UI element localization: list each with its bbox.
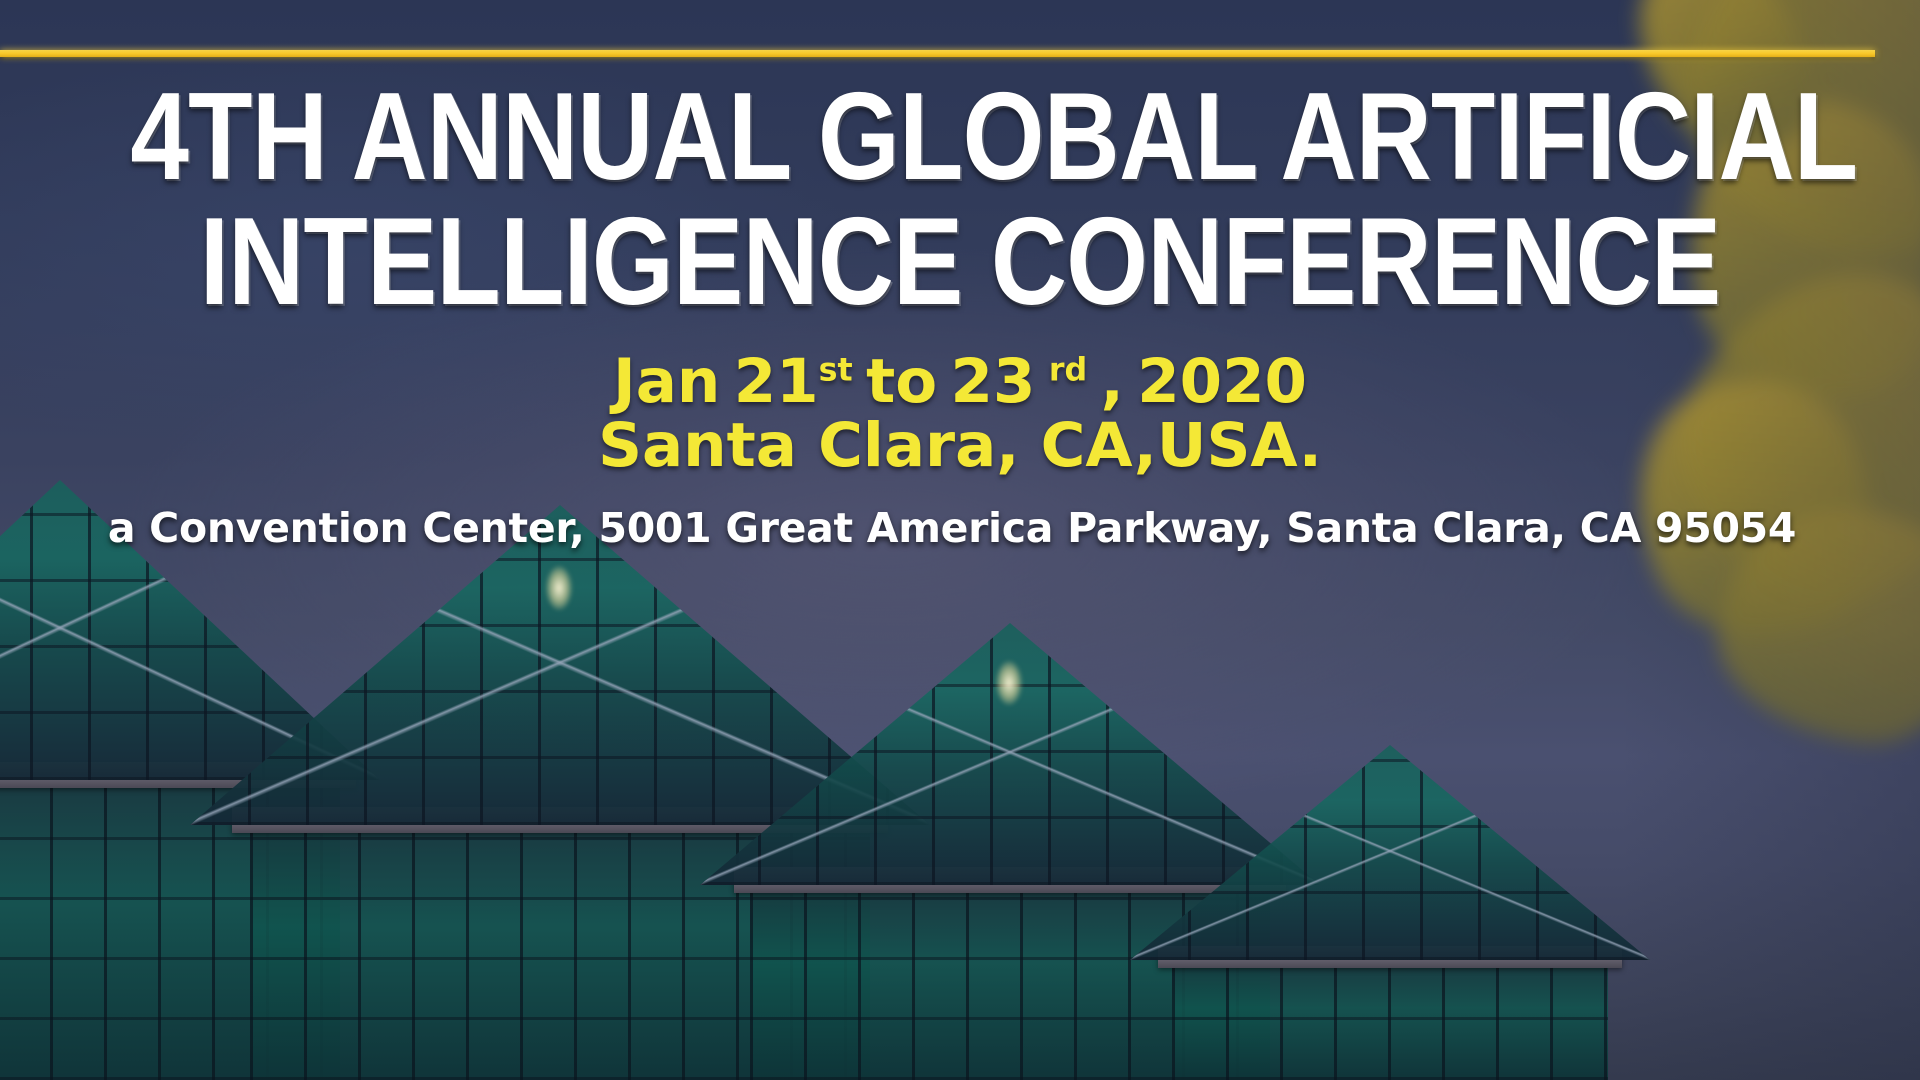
building-3-pyramid-roof bbox=[700, 623, 1320, 885]
pyramid-building-3 bbox=[700, 610, 1320, 1080]
date-connector: to bbox=[866, 346, 937, 417]
conference-banner: 4TH ANNUAL GLOBAL ARTIFICIAL INTELLIGENC… bbox=[0, 0, 1920, 1080]
page-title: 4TH ANNUAL GLOBAL ARTIFICIAL INTELLIGENC… bbox=[144, 78, 1776, 322]
building-2-glass-body bbox=[250, 825, 870, 1080]
building-4-cornice bbox=[1158, 946, 1622, 968]
building-2-apex-light bbox=[546, 566, 572, 610]
event-location: Santa Clara, CA,USA. bbox=[0, 414, 1920, 478]
banner-content: 4TH ANNUAL GLOBAL ARTIFICIAL INTELLIGENC… bbox=[0, 0, 1920, 552]
date-comma: , bbox=[1101, 346, 1124, 417]
building-3-cornice bbox=[734, 867, 1286, 893]
pyramid-building-1 bbox=[0, 520, 380, 1080]
date-day-start: 21 bbox=[734, 346, 819, 417]
building-4-pyramid-roof bbox=[1130, 745, 1650, 960]
date-day-end: 23 bbox=[951, 346, 1036, 417]
building-1-glass-body bbox=[0, 780, 340, 1080]
event-date-location: Jan21stto23rd,2020 Santa Clara, CA,USA. bbox=[0, 350, 1920, 478]
building-2-pyramid-roof bbox=[190, 505, 930, 825]
convention-center-skyline bbox=[0, 520, 1920, 1080]
date-day-end-suffix: rd bbox=[1049, 353, 1087, 389]
building-1-cornice bbox=[0, 762, 356, 788]
date-month: Jan bbox=[613, 346, 720, 417]
venue-address: a Convention Center, 5001 Great America … bbox=[0, 504, 1912, 552]
pyramid-building-4 bbox=[1130, 720, 1650, 1080]
date-day-start-suffix: st bbox=[819, 353, 853, 389]
building-2-cornice bbox=[232, 807, 888, 833]
date-year: 2020 bbox=[1137, 346, 1307, 417]
pyramid-building-2 bbox=[190, 520, 930, 1080]
building-3-apex-light bbox=[996, 661, 1022, 705]
building-4-glass-body bbox=[1172, 960, 1608, 1080]
building-3-glass-body bbox=[750, 885, 1270, 1080]
event-date-line: Jan21stto23rd,2020 bbox=[0, 350, 1920, 414]
title-line-1: 4TH ANNUAL GLOBAL ARTIFICIAL bbox=[130, 78, 1776, 197]
title-line-2: INTELLIGENCE CONFERENCE bbox=[144, 203, 1776, 322]
